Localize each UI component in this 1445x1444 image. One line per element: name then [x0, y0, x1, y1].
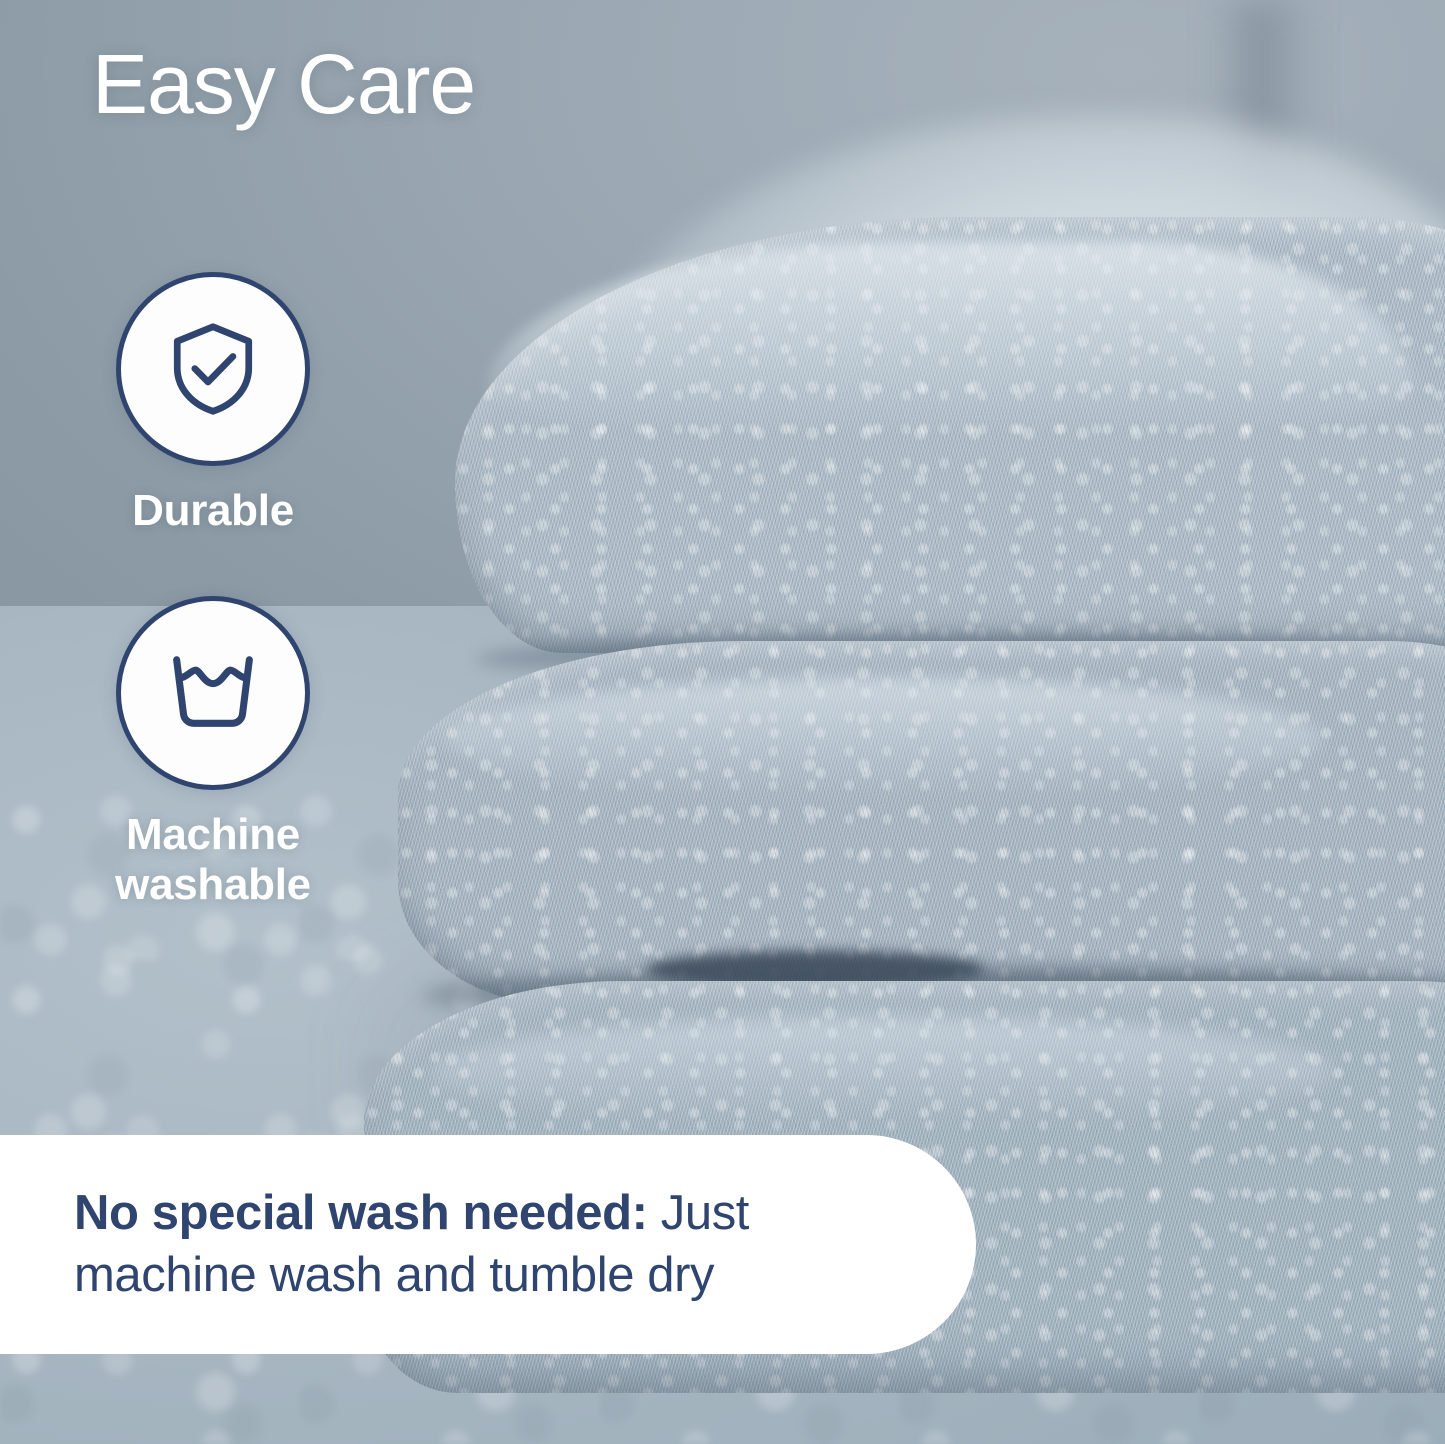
easy-care-infographic: Easy Care Durable [0, 0, 1445, 1444]
caption-banner: No special wash needed: Just machine was… [0, 1135, 976, 1354]
feature-badge-machine-washable: Machinewashable [58, 596, 368, 910]
feature-badge-label: Durable [132, 486, 294, 536]
caption-bold-lead: No special wash needed: [74, 1186, 648, 1240]
feature-badge-list: Durable Machinewashable [0, 272, 430, 910]
page-title: Easy Care [92, 42, 475, 126]
sheet-fold-bottom-highlight [432, 1017, 1334, 1126]
shield-check-icon [161, 317, 265, 421]
caption-text: No special wash needed: Just machine was… [0, 1183, 976, 1306]
sheet-fold-top-highlight [488, 241, 1412, 435]
durable-icon-circle [116, 272, 310, 466]
feature-badge-label: Machinewashable [115, 810, 311, 910]
machine-washable-icon-circle [116, 596, 310, 790]
feature-badge-durable: Durable [58, 272, 368, 536]
sheet-fold-middle-highlight [443, 678, 1322, 799]
wash-tub-icon [159, 641, 267, 745]
